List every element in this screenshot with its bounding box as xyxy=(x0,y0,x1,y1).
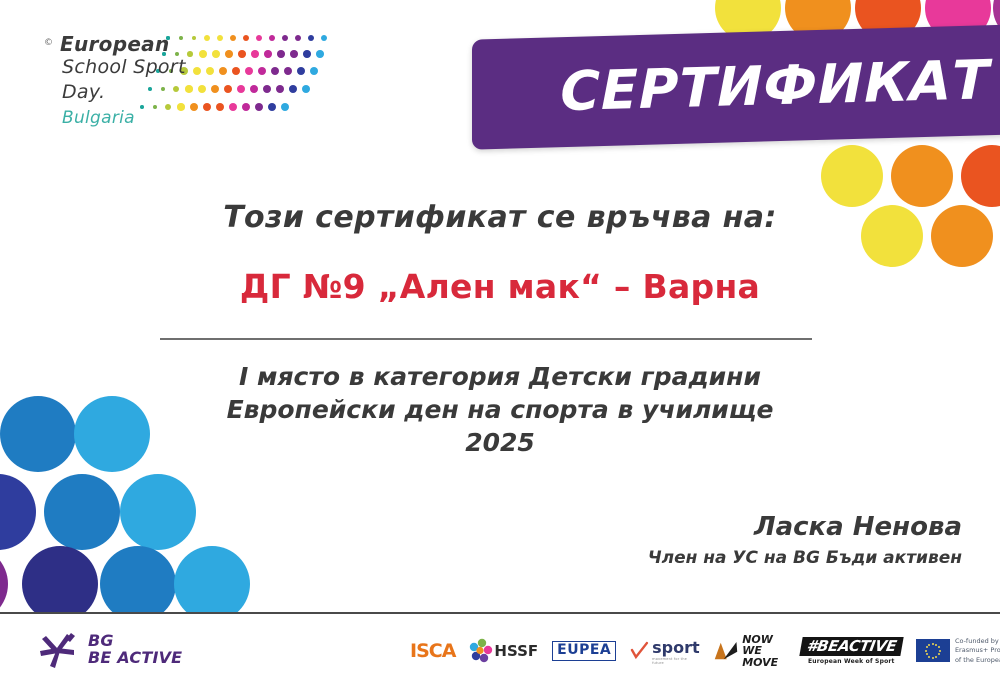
essd-logo-dot xyxy=(282,35,289,42)
essd-logo-dot xyxy=(268,103,276,111)
essd-logo-dot xyxy=(297,67,305,75)
essd-logo-line-3: Day. xyxy=(62,81,105,103)
essd-logo-dot xyxy=(250,85,258,93)
sport-tagline: movement for the future xyxy=(652,657,700,665)
eu-flag-star-icon xyxy=(928,656,930,658)
essd-logo-dot xyxy=(290,50,298,58)
essd-logo-dot xyxy=(177,103,184,110)
sport-wordmark: sport movement for the future xyxy=(652,638,700,665)
essd-logo-dot xyxy=(161,87,166,92)
essd-logo-dot xyxy=(263,85,271,93)
essd-logo-dot xyxy=(276,85,284,93)
essd-logo-dot xyxy=(238,50,246,58)
essd-logo-dot xyxy=(256,35,263,42)
essd-logo-dot xyxy=(211,85,219,93)
bg-be-active-star-icon xyxy=(36,630,80,670)
partner-logo-erasmus: Co-funded by the Erasmus+ Programme of t… xyxy=(916,637,1000,665)
essd-logo-dot xyxy=(302,85,310,93)
bg-be-active-line-2: BE ACTIVE xyxy=(88,650,182,667)
award-year: 2025 xyxy=(0,426,1000,459)
banner-title: СЕРТИФИКАТ xyxy=(472,53,990,121)
essd-logo-dot xyxy=(212,50,220,58)
eu-flag-star-icon xyxy=(939,650,941,652)
essd-logo-dot xyxy=(216,103,224,111)
essd-logo-dot xyxy=(187,51,193,57)
essd-logo-dot xyxy=(295,35,302,42)
partner-logo-sport: sport movement for the future xyxy=(630,638,700,665)
partner-logo-isca: ISCA xyxy=(410,640,455,662)
decorative-circle xyxy=(891,145,953,207)
eu-flag-star-icon xyxy=(938,653,940,655)
signatory-name: Ласка Ненова xyxy=(648,512,962,542)
award-category-line-1: I място в категория Детски градини xyxy=(0,360,1000,393)
essd-logo-country: Bulgaria xyxy=(62,108,135,128)
hssf-wordmark: HSSF xyxy=(494,642,538,660)
essd-logo-dot xyxy=(277,50,285,58)
essd-logo-dot xyxy=(190,103,198,111)
eu-flag-star-icon xyxy=(928,644,930,646)
certificate-banner: СЕРТИФИКАТ xyxy=(472,24,1000,149)
award-intro-text: Този сертификат се връчва на: xyxy=(0,200,1000,235)
essd-logo-dot xyxy=(219,67,227,75)
essd-logo-dot xyxy=(185,85,192,92)
partner-logos: ISCA HSSF EUPEA xyxy=(410,628,990,674)
footer: BG BE ACTIVE ISCA HSSF EUPEA xyxy=(0,614,1000,688)
essd-logo-dot xyxy=(303,50,311,58)
essd-logo-dot xyxy=(271,67,279,75)
partner-logo-hssf: HSSF xyxy=(469,638,538,664)
eu-flag-star-icon xyxy=(935,656,937,658)
award-category-line-2: Европейски ден на спорта в училище xyxy=(0,393,1000,426)
partner-logo-eupea: EUPEA xyxy=(552,641,616,661)
signature-block: Ласка Ненова Член на УС на BG Бъди актив… xyxy=(648,512,962,568)
essd-logo-dot xyxy=(321,35,328,42)
registered-mark-icon: © xyxy=(44,38,53,48)
essd-logo-dot xyxy=(308,35,315,42)
european-union-flag-icon xyxy=(916,639,950,662)
essd-logo-dot xyxy=(232,67,240,75)
essd-logo-dot xyxy=(148,87,152,91)
essd-logo-line-1: European xyxy=(60,32,170,56)
certificate-body: Този сертификат се връчва на: ДГ №9 „Але… xyxy=(0,200,1000,306)
essd-logo-dot xyxy=(258,67,266,75)
erasmus-caption-line-1: Co-funded by the xyxy=(955,637,1000,646)
essd-logo-dot xyxy=(140,105,144,109)
essd-logo-dot xyxy=(173,86,179,92)
essd-logo-dot xyxy=(264,50,272,58)
decorative-circle xyxy=(0,546,8,622)
hssf-people-icon xyxy=(469,638,493,664)
award-category-block: I място в категория Детски градини Европ… xyxy=(0,360,1000,459)
decorative-circle xyxy=(44,474,120,550)
essd-logo-dot xyxy=(255,103,263,111)
beactive-badge: #BEACTIVE xyxy=(799,637,904,656)
beactive-tagline: European Week of Sport xyxy=(808,658,895,665)
erasmus-caption-line-2: Erasmus+ Programme xyxy=(955,646,1000,655)
essd-logo-dot xyxy=(204,35,211,42)
isca-wordmark: ISCA xyxy=(410,640,455,662)
essd-logo-dot xyxy=(310,67,318,75)
essd-logo-dot xyxy=(242,103,250,111)
essd-logo-dot xyxy=(229,103,237,111)
erasmus-funding-caption: Co-funded by the Erasmus+ Programme of t… xyxy=(955,637,1000,665)
essd-logo-dot xyxy=(153,105,158,110)
essd-logo-dot xyxy=(281,103,289,111)
bg-be-active-logo: BG BE ACTIVE xyxy=(36,630,182,670)
decorative-circle xyxy=(174,546,250,622)
essd-logo-dot xyxy=(284,67,292,75)
bg-be-active-wordmark: BG BE ACTIVE xyxy=(88,633,182,667)
essd-logo-dot xyxy=(269,35,276,42)
partner-logo-beactive: #BEACTIVE European Week of Sport xyxy=(801,637,902,665)
signatory-role: Член на УС на BG Бъди активен xyxy=(648,548,962,568)
decorative-circle xyxy=(22,546,98,622)
essd-logo-line-2: School Sport xyxy=(62,56,186,78)
now-we-move-wordmark: NOW WE MOVE xyxy=(742,634,786,669)
decorative-circle xyxy=(100,546,176,622)
decorative-circle xyxy=(0,474,36,550)
now-we-move-arrow-icon xyxy=(714,638,739,664)
sport-wordmark-text: sport xyxy=(652,638,700,657)
essd-logo-dot xyxy=(203,103,211,111)
eu-flag-star-icon xyxy=(926,646,928,648)
essd-logo-dot xyxy=(198,85,206,93)
beactive-wordmark: #BEACTIVE xyxy=(805,639,897,654)
essd-logo-dot xyxy=(243,35,250,42)
horizontal-divider xyxy=(160,338,812,340)
essd-logo-dot xyxy=(224,85,232,93)
eu-flag-star-icon xyxy=(932,657,934,659)
sport-check-icon xyxy=(630,641,650,661)
decorative-circle xyxy=(961,145,1000,207)
decorative-circle xyxy=(821,145,883,207)
essd-logo-dot xyxy=(237,85,245,93)
essd-logo-dot xyxy=(230,35,237,42)
essd-logo-dot xyxy=(316,50,324,58)
essd-logo-dot xyxy=(225,50,233,58)
essd-logo-dot xyxy=(193,67,201,75)
essd-logo-dot xyxy=(165,104,171,110)
decorative-circle xyxy=(120,474,196,550)
recipient-name: ДГ №9 „Ален мак“ – Варна xyxy=(0,267,1000,306)
essd-logo-dot xyxy=(251,50,259,58)
eupea-wordmark: EUPEA xyxy=(557,643,611,657)
partner-logo-now-we-move: NOW WE MOVE xyxy=(714,634,787,669)
essd-logo-dot xyxy=(245,67,253,75)
essd-logo-dot xyxy=(206,67,214,75)
essd-logo-dot xyxy=(179,36,183,40)
erasmus-caption-line-3: of the European Union xyxy=(955,656,1000,665)
eu-flag-star-icon xyxy=(932,643,934,645)
essd-logo-dot xyxy=(199,50,207,58)
european-school-sport-day-logo: © European School Sport Day. Bulgaria xyxy=(40,32,340,136)
essd-logo-dot xyxy=(289,85,297,93)
certificate-page: © European School Sport Day. Bulgaria СЕ… xyxy=(0,0,1000,688)
essd-logo-dot xyxy=(192,36,197,41)
now-we-move-line-2: WE MOVE xyxy=(742,645,786,668)
eu-flag-star-icon xyxy=(925,650,927,652)
eu-flag-star-icon xyxy=(938,646,940,648)
essd-logo-dot xyxy=(217,35,224,42)
